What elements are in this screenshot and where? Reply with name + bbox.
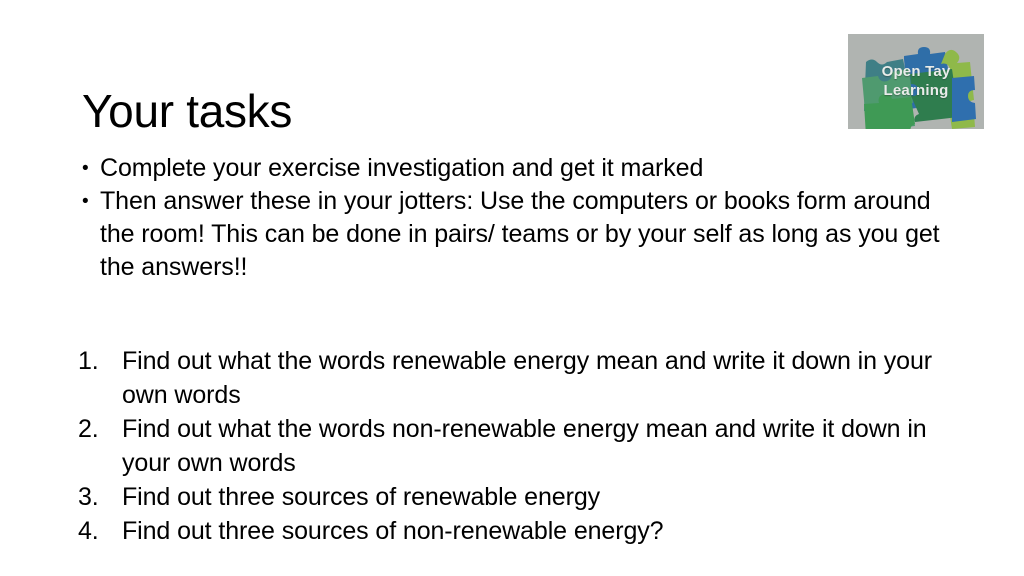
puzzle-pieces-icon bbox=[848, 34, 984, 129]
task-number-3: 3. bbox=[78, 480, 110, 514]
task-item-4: 4. Find out three sources of non-renewab… bbox=[78, 514, 958, 548]
slide-body: Complete your exercise investigation and… bbox=[78, 152, 958, 548]
task-number-4: 4. bbox=[78, 514, 110, 548]
bullet-list: Complete your exercise investigation and… bbox=[78, 152, 958, 284]
task-number-1: 1. bbox=[78, 344, 110, 378]
task-text-3: Find out three sources of renewable ener… bbox=[122, 483, 600, 511]
task-text-1: Find out what the words renewable energy… bbox=[122, 347, 932, 409]
presentation-slide: Open Tay Learning Your tasks Complete yo… bbox=[0, 0, 1024, 576]
open-tay-learning-logo: Open Tay Learning bbox=[848, 34, 984, 129]
puzzle-piece-bottom-middle bbox=[910, 69, 959, 122]
slide-title: Your tasks bbox=[82, 83, 292, 139]
task-text-2: Find out what the words non-renewable en… bbox=[122, 415, 927, 477]
task-item-1: 1. Find out what the words renewable ene… bbox=[78, 344, 958, 412]
task-item-2: 2. Find out what the words non-renewable… bbox=[78, 412, 958, 480]
task-item-3: 3. Find out three sources of renewable e… bbox=[78, 480, 958, 514]
bullet-item-1: Complete your exercise investigation and… bbox=[78, 152, 958, 185]
numbered-task-list: 1. Find out what the words renewable ene… bbox=[78, 344, 958, 548]
bullet-item-2: Then answer these in your jotters: Use t… bbox=[78, 185, 958, 284]
task-number-2: 2. bbox=[78, 412, 110, 446]
content-spacer bbox=[78, 284, 958, 344]
task-text-4: Find out three sources of non-renewable … bbox=[122, 517, 663, 545]
